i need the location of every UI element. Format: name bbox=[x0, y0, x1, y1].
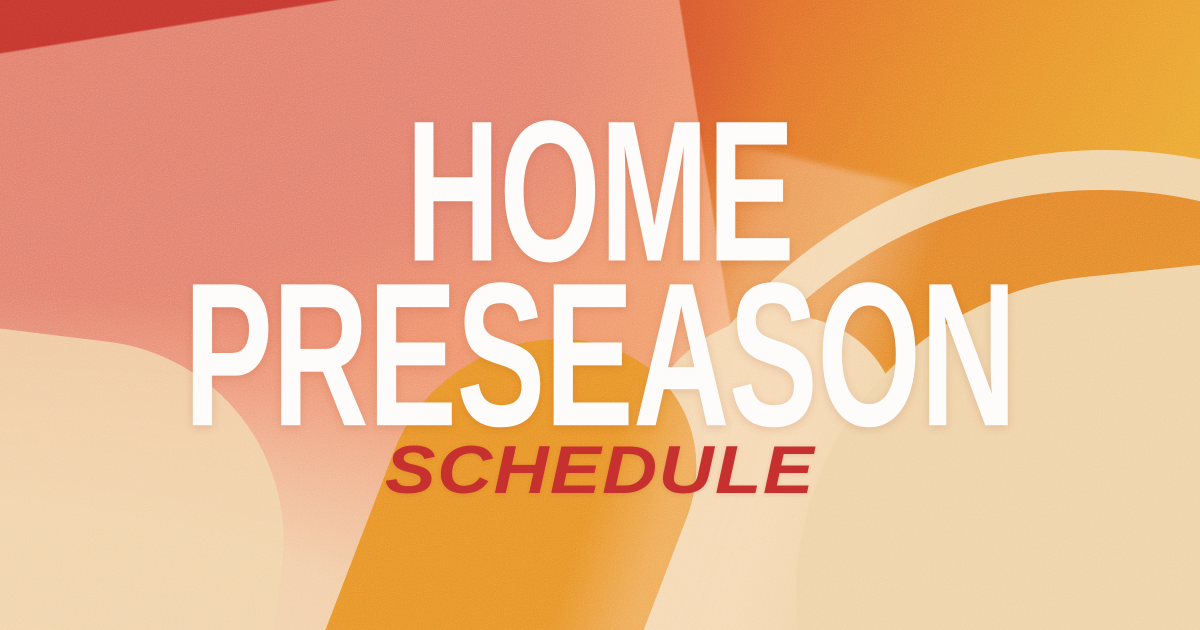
tan-gap-band-shape bbox=[438, 292, 932, 630]
grain-texture-overlay bbox=[0, 0, 1200, 630]
headline-line-schedule: SCHEDULE bbox=[0, 436, 1200, 504]
orange-arc-right-shape bbox=[514, 239, 1200, 630]
light-streak-shape bbox=[488, 140, 951, 630]
headline-block: HOME PRESEASON SCHEDULE bbox=[0, 0, 1200, 630]
salmon-swoosh-shape bbox=[0, 0, 840, 630]
tan-wash-shape bbox=[0, 0, 1200, 630]
poster-canvas: HOME PRESEASON SCHEDULE bbox=[0, 0, 1200, 630]
headline-line-preseason: PRESEASON bbox=[174, 252, 1026, 457]
red-blob-shape bbox=[0, 0, 1200, 630]
headline-line-home: HOME bbox=[180, 92, 1020, 293]
background-base-gradient bbox=[0, 0, 1200, 630]
tan-curve-right-shape bbox=[615, 150, 1200, 630]
orange-arc-left-shape bbox=[159, 309, 741, 630]
tan-strip-left-shape bbox=[0, 317, 307, 630]
orange-curve-right-shape bbox=[650, 190, 1200, 630]
tan-corner-bottom-right-shape bbox=[764, 252, 1200, 630]
